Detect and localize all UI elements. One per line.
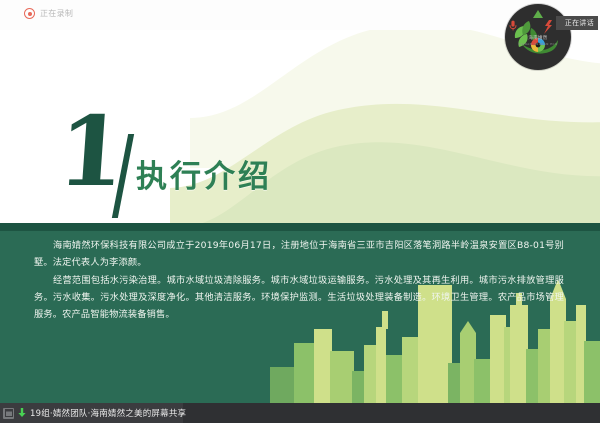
org-name: 海南婧然 — [512, 35, 564, 41]
record-dot-icon — [24, 8, 35, 19]
recording-indicator: 正在录制 — [24, 8, 73, 19]
slide-body-area: 海南婧然环保科技有限公司成立于2019年06月17日，注册地位于海南省三亚市吉阳… — [0, 223, 600, 403]
body-paragraph: 经营范围包括水污染治理。城市水域垃圾清除服务。城市水域垃圾运输服务。污水处理及其… — [34, 272, 564, 323]
recording-label: 正在录制 — [40, 8, 73, 19]
share-status-text: 19组·婧然团队·海南婧然之美的屏幕共享 — [30, 407, 186, 419]
slide-body-text: 海南婧然环保科技有限公司成立于2019年06月17日，注册地位于海南省三亚市吉阳… — [34, 237, 564, 324]
body-top-rule — [0, 223, 600, 231]
microphone-icon — [509, 20, 517, 31]
screen-share-window: 正在录制 1 执行介绍 — [0, 0, 600, 423]
org-subtitle: HAINAN JINGRAN ECO — [512, 42, 564, 46]
body-paragraph: 海南婧然环保科技有限公司成立于2019年06月17日，注册地位于海南省三亚市吉阳… — [34, 237, 564, 271]
active-speaker-badge[interactable]: 海南婧然 HAINAN JINGRAN ECO 正在讲话 — [506, 2, 594, 76]
taskbar: 19组·婧然团队·海南婧然之美的屏幕共享 — [0, 403, 600, 423]
slide-section-number: 1 — [55, 104, 127, 200]
hill-shape-deep — [190, 68, 600, 223]
avatar[interactable]: 海南婧然 HAINAN JINGRAN ECO — [505, 4, 571, 70]
speaking-label: 正在讲话 — [556, 16, 598, 30]
slide-title: 执行介绍 — [136, 151, 272, 196]
